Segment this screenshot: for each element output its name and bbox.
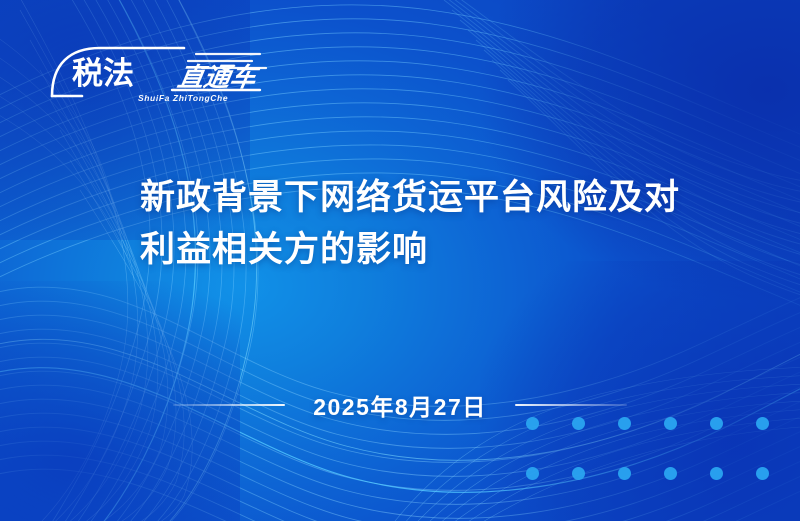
dot <box>526 417 539 430</box>
dot <box>710 417 723 430</box>
page-title: 新政背景下网络货运平台风险及对 利益相关方的影响 <box>140 172 700 276</box>
dot <box>618 417 631 430</box>
dot <box>572 467 585 480</box>
logo-main-text: 税法 <box>72 56 134 92</box>
title-line-1: 新政背景下网络货运平台风险及对 <box>140 172 700 224</box>
dot <box>756 467 769 480</box>
dot <box>526 467 539 480</box>
dot <box>664 467 677 480</box>
dot <box>572 417 585 430</box>
dot <box>664 417 677 430</box>
date-text: 2025年8月27日 <box>313 388 487 422</box>
logo-secondary-text: 直通车 <box>175 63 262 93</box>
dot <box>710 467 723 480</box>
logo-pinyin-text: ShuiFa ZhiTongChe <box>138 93 228 103</box>
shuifa-zhitongche-logo: 税法 直通车 ShuiFa ZhiTongChe <box>46 38 276 106</box>
dot <box>756 417 769 430</box>
poster-slide: 税法 直通车 ShuiFa ZhiTongChe 新政背景下网络货运平台风险及对… <box>0 0 800 521</box>
dot <box>618 467 631 480</box>
decorative-dot-grid <box>526 417 772 483</box>
date-rule-left <box>173 404 285 406</box>
title-line-2: 利益相关方的影响 <box>140 224 700 276</box>
date-rule-right <box>515 404 627 406</box>
